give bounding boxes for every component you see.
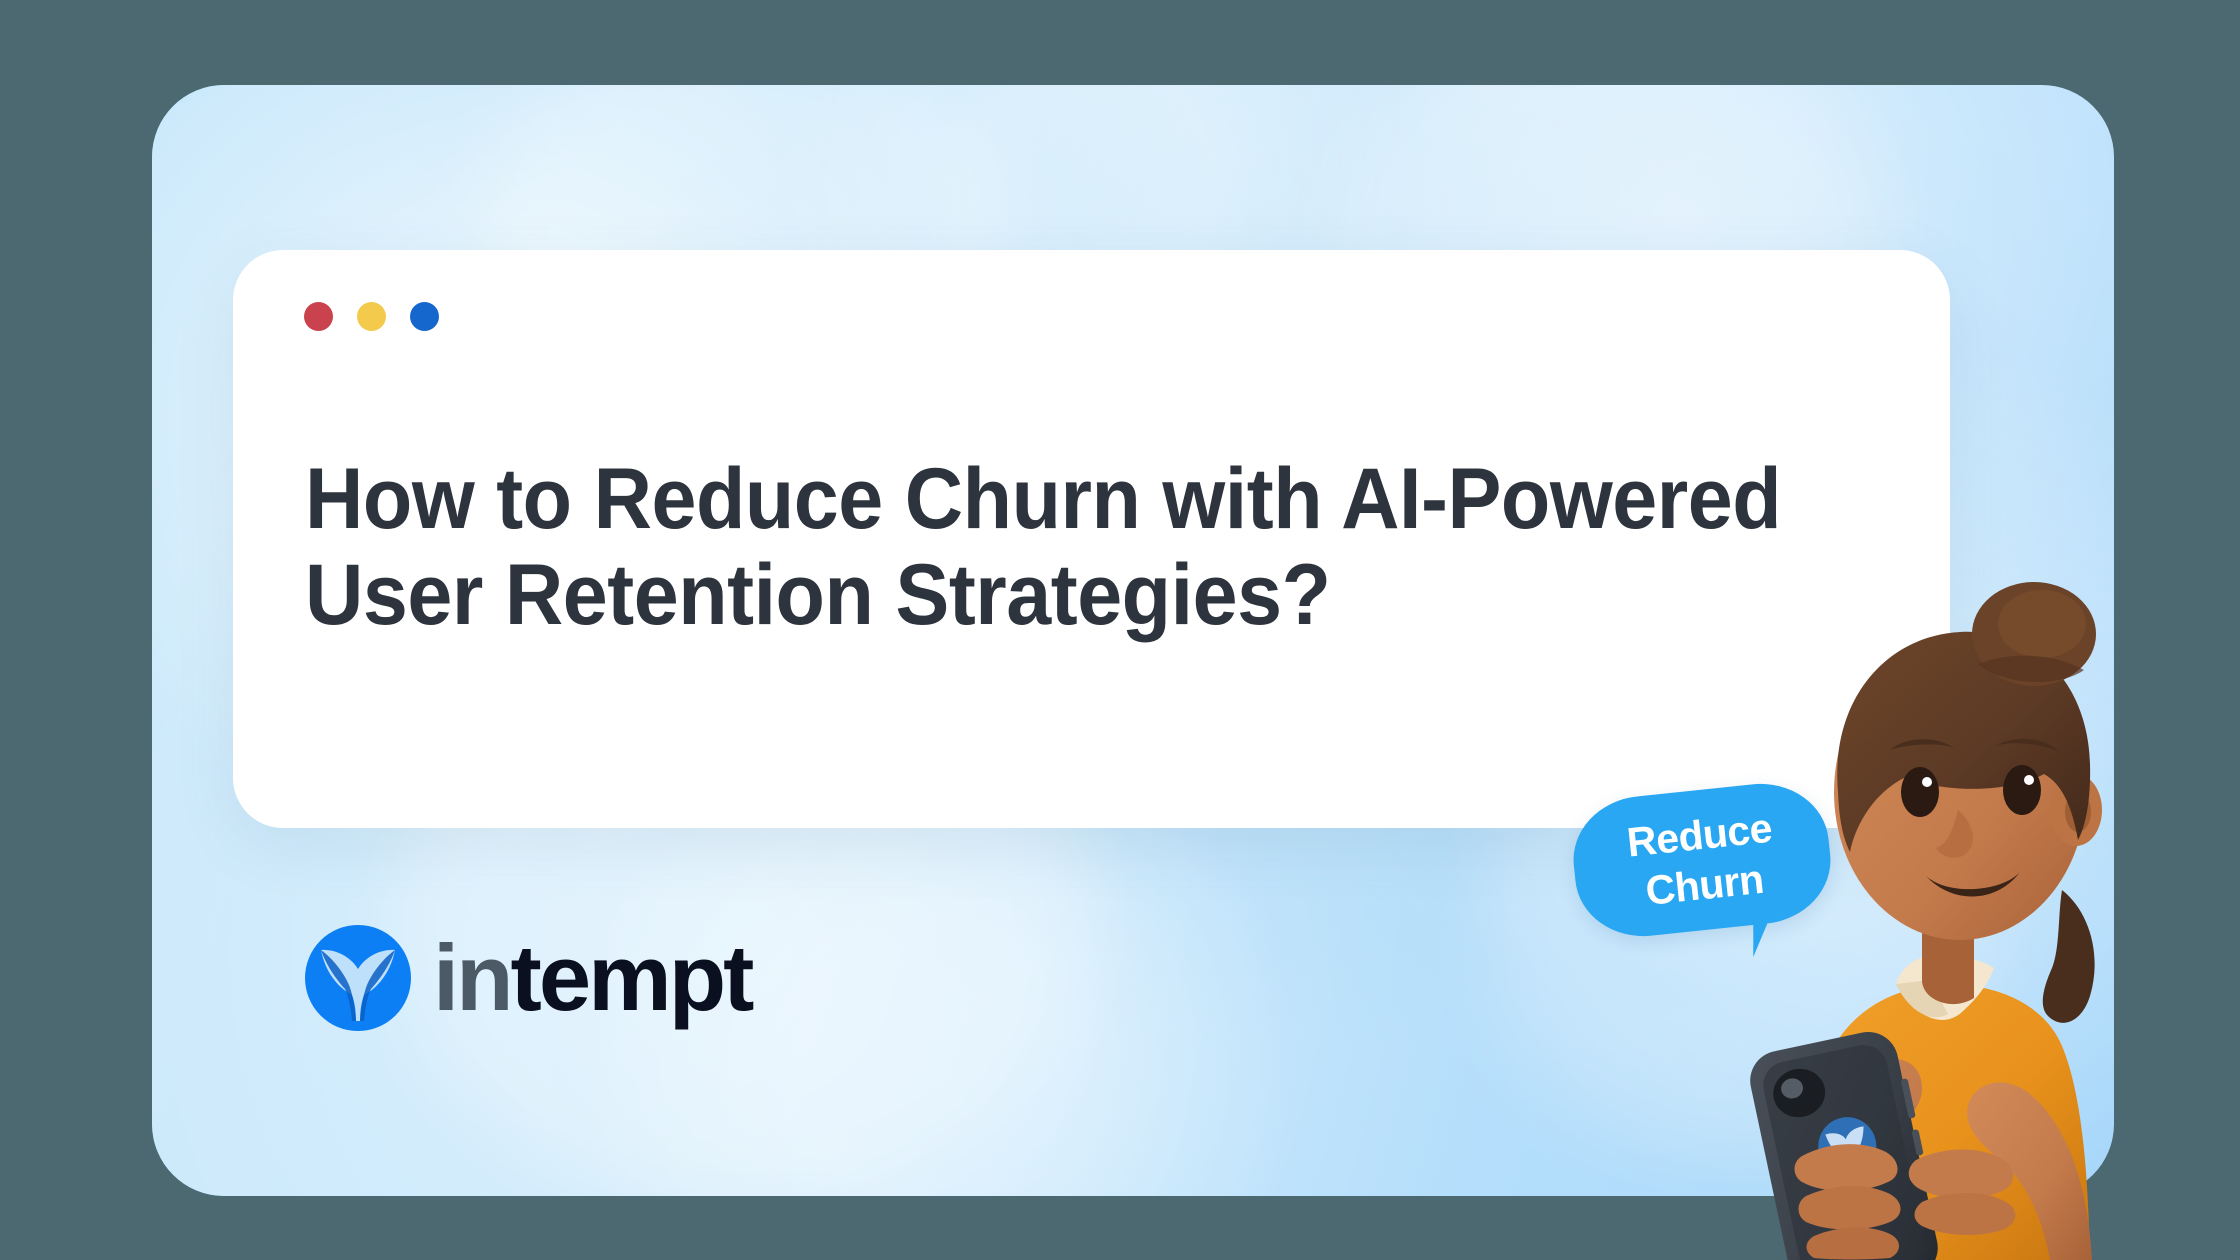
character-illustration — [1690, 560, 2130, 1260]
screenshot-canvas: How to Reduce Churn with AI-Powered User… — [0, 0, 2240, 1260]
brand-word-in: in — [433, 925, 511, 1030]
page-title: How to Reduce Churn with AI-Powered User… — [305, 451, 1790, 644]
close-dot[interactable] — [304, 302, 333, 331]
minimize-dot[interactable] — [357, 302, 386, 331]
intempt-whale-tail-icon — [305, 925, 411, 1031]
brand-wordmark: intempt — [433, 931, 751, 1025]
window-dots — [304, 302, 439, 331]
maximize-dot[interactable] — [410, 302, 439, 331]
brand-word-tempt: tempt — [511, 925, 752, 1030]
brand-lockup[interactable]: intempt — [305, 925, 751, 1031]
